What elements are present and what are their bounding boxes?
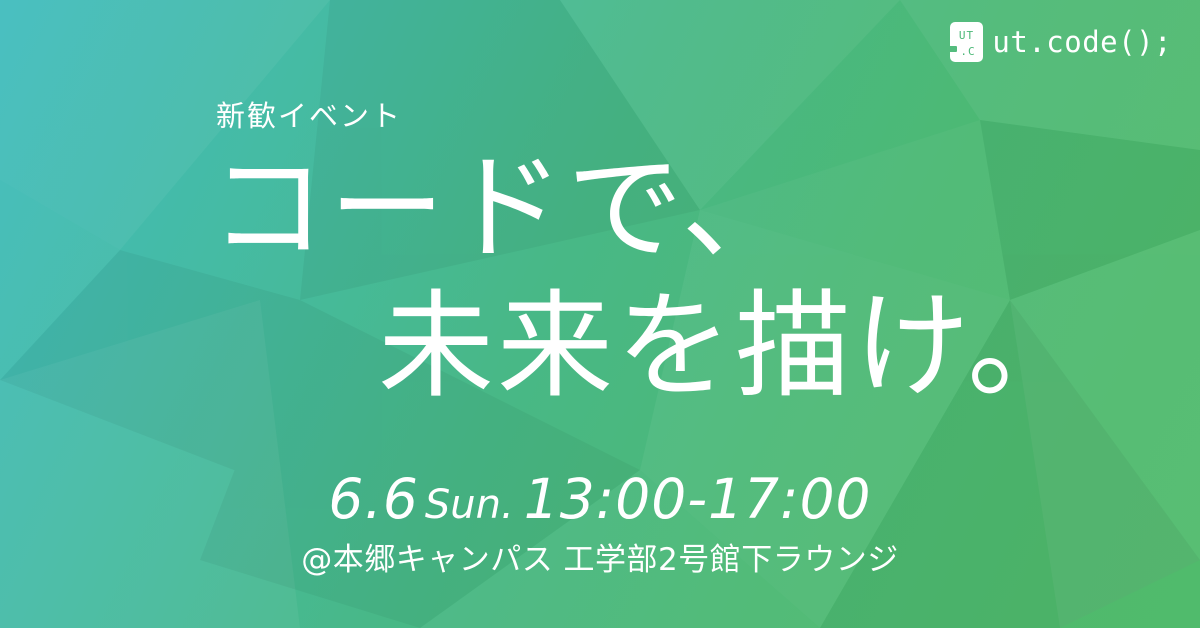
event-time: 13:00-17:00 [524, 467, 872, 531]
event-weekday: Sun. [425, 482, 514, 528]
event-eyebrow-label: 新歓イベント [216, 99, 402, 134]
brand-wordmark: ut.code(); [992, 28, 1172, 57]
headline-line-1: コードで、 [210, 150, 800, 268]
svg-text:.C: .C [961, 45, 976, 58]
svg-text:UT: UT [959, 29, 974, 42]
event-date: 6.6 [328, 467, 418, 531]
utcode-logo-icon: UT .C [950, 22, 983, 62]
event-datetime: 6.6Sun.13:00-17:00 [0, 472, 1200, 527]
brand-lockup: UT .C ut.code(); [950, 22, 1172, 62]
event-poster: UT .C ut.code(); 新歓イベント コードで、 未来を描け。 6.6… [0, 0, 1200, 628]
headline-line-2: 未来を描け。 [378, 288, 1086, 406]
event-venue: @本郷キャンパス 工学部2号館下ラウンジ [0, 541, 1200, 580]
